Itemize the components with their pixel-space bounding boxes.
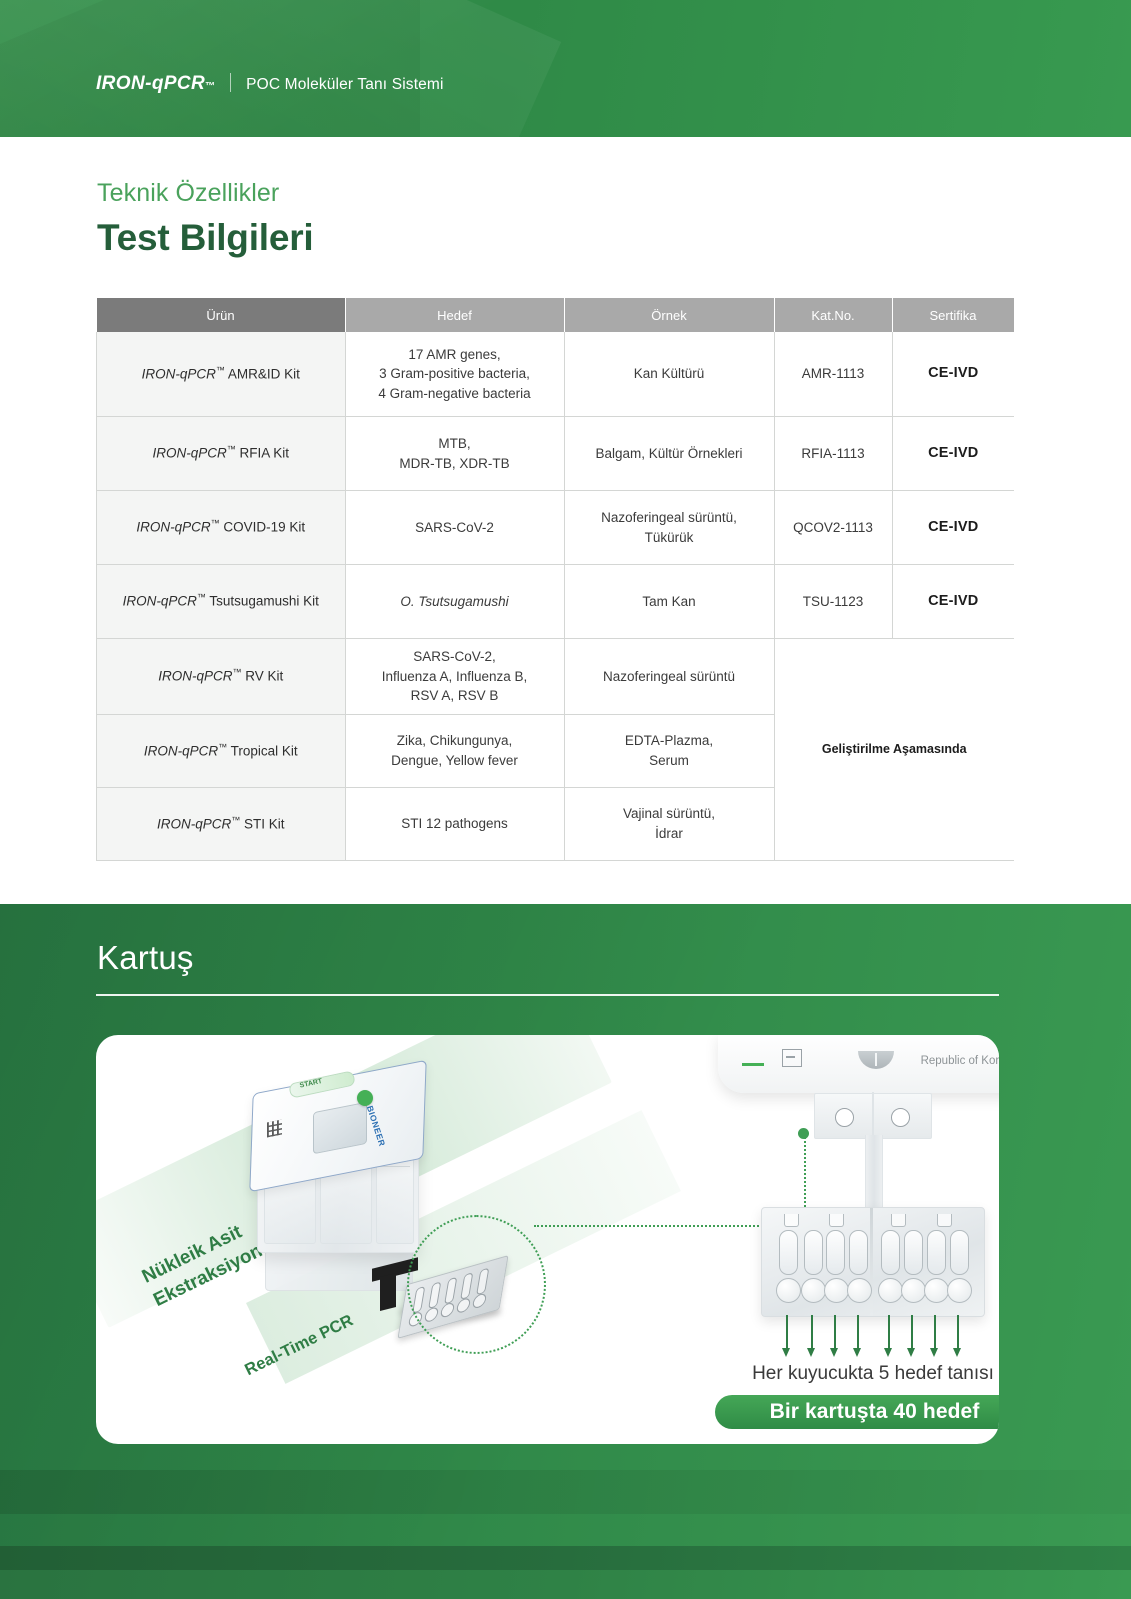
chip-notch [937,1214,952,1227]
product-kit-name: AMR&ID Kit [225,366,300,381]
trademark-icon: ™ [211,518,220,528]
connector-endpoint-dot [798,1128,809,1139]
chip-well [924,1278,949,1303]
cell-development-note: Geliştirilme Aşamasında [774,639,1014,861]
chip-well [947,1278,972,1303]
bracket-hole [891,1108,910,1127]
cell-product: IRON-qPCR™ RFIA Kit [97,417,346,491]
cell-catno: AMR-1113 [774,332,892,417]
cell-catno: QCOV2-1113 [774,491,892,565]
cell-certificate: CE-IVD [892,491,1014,565]
cell-product: IRON-qPCR™ RV Kit [97,639,346,715]
footer-band [0,1546,1131,1570]
arrow-line [786,1315,788,1351]
test-info-table: Ürün Hedef Örnek Kat.No. Sertifika IRON-… [96,298,1015,861]
cell-target: Zika, Chikungunya, Dengue, Yellow fever [345,714,564,787]
product-kit-name: Tsutsugamushi Kit [206,594,319,609]
cell-catno: TSU-1123 [774,565,892,639]
magnifier-circle [407,1215,546,1354]
column-header-sertifika: Sertifika [892,298,1014,332]
trademark-icon: ™ [205,81,215,92]
cell-target: SARS-CoV-2, Influenza A, Influenza B, RS… [345,639,564,715]
page-title: Test Bilgileri [97,217,314,259]
table-row: IRON-qPCR™ COVID-19 Kit SARS-CoV-2 Nazof… [97,491,1015,565]
column-header-katno: Kat.No. [774,298,892,332]
cell-certificate: CE-IVD [892,332,1014,417]
header-tagline: POC Moleküler Tanı Sistemi [246,76,443,94]
chip-well [878,1278,903,1303]
column-header-ornek: Örnek [564,298,774,332]
trademark-icon: ™ [197,592,206,602]
trademark-icon: ™ [227,444,236,454]
cell-product: IRON-qPCR™ AMR&ID Kit [97,332,346,417]
cell-sample: Tam Kan [564,565,774,639]
indicator-bar [742,1063,764,1066]
product-brand: IRON-qPCR [142,366,216,381]
chip-notch [891,1214,906,1227]
cartridge-holder-bracket [814,1093,932,1139]
arrow-line [911,1315,913,1351]
chip-stem [865,1135,883,1210]
well-arrows-group [761,1315,983,1363]
chip-notch [829,1214,844,1227]
trademark-icon: ™ [231,815,240,825]
arrow-line [934,1315,936,1351]
chip-slot [826,1230,845,1275]
page-footer [0,1570,1131,1599]
chip-slot [881,1230,900,1275]
chip-slot [849,1230,868,1275]
page-header-bar: IRON-qPCR™ POC Moleküler Tanı Sistemi [0,0,1131,137]
arrow-head-icon [830,1348,838,1357]
chip-notch [784,1214,799,1227]
spec-section: Teknik Özellikler Test Bilgileri Ürün He… [0,137,1131,904]
chip-well [901,1278,926,1303]
brand-divider [230,73,231,92]
arrow-line [834,1315,836,1351]
cell-catno: RFIA-1113 [774,417,892,491]
table-header-row: Ürün Hedef Örnek Kat.No. Sertifika [97,298,1015,332]
bracket-hole [835,1108,854,1127]
cell-target: 17 AMR genes, 3 Gram-positive bacteria, … [345,332,564,417]
arrow-line [857,1315,859,1351]
chip-slot [779,1230,798,1275]
table-row: IRON-qPCR™ RFIA Kit MTB, MDR-TB, XDR-TB … [97,417,1015,491]
cell-product: IRON-qPCR™ STI Kit [97,787,346,860]
cell-target: SARS-CoV-2 [345,491,564,565]
brand-lockup: IRON-qPCR™ POC Moleküler Tanı Sistemi [96,70,444,95]
chip-slot [804,1230,823,1275]
product-brand: IRON-qPCR [152,446,226,461]
cartridge-product-image: BIONEER START [251,1063,426,1263]
table-row: IRON-qPCR™ RV Kit SARS-CoV-2, Influenza … [97,639,1015,715]
column-header-hedef: Hedef [345,298,564,332]
qr-code-icon [267,1120,282,1138]
section-eyebrow: Teknik Özellikler [97,179,279,208]
arrow-line [957,1315,959,1351]
cartridge-diagram-card: Nükleik Asit Ekstraksiyonu Real-Time PCR… [96,1035,999,1444]
trademark-icon: ™ [233,667,242,677]
chip-slot [927,1230,946,1275]
product-brand: IRON-qPCR [157,816,231,831]
chip-well [776,1278,801,1303]
arrow-head-icon [782,1348,790,1357]
product-brand: IRON-qPCR [136,520,210,535]
table-row: IRON-qPCR™ AMR&ID Kit 17 AMR genes, 3 Gr… [97,332,1015,417]
product-kit-name: RV Kit [242,669,284,684]
table-row: IRON-qPCR™ Tsutsugamushi Kit O. Tsutsuga… [97,565,1015,639]
brand-name: IRON-qPCR [96,73,205,95]
power-indicator-icon [742,1051,768,1065]
chip-well [847,1278,872,1303]
column-header-urun: Ürün [97,298,346,332]
cartridge-section: Kartuş Nükleik Asit Ekstraksiyonu Real-T… [0,904,1131,1570]
brochure-page: IRON-qPCR™ POC Moleküler Tanı Sistemi Te… [0,0,1131,1599]
arrow-line [888,1315,890,1351]
cell-sample: Nazoferingeal sürüntü, Tükürük [564,491,774,565]
table-header: Ürün Hedef Örnek Kat.No. Sertifika [97,298,1015,332]
targets-badge-label: Bir kartuşta 40 hedef [770,1400,980,1424]
pull-tab-label: START [299,1078,323,1090]
cell-sample: EDTA-Plazma, Serum [564,714,774,787]
chip-well [824,1278,849,1303]
status-indicator-dot [357,1090,373,1106]
chip-well [801,1278,826,1303]
targets-badge: Bir kartuşta 40 hedef [715,1395,999,1429]
arrow-head-icon [930,1348,938,1357]
cell-target: STI 12 pathogens [345,787,564,860]
origin-label: Republic of Korea [921,1055,999,1067]
cell-product: IRON-qPCR™ COVID-19 Kit [97,491,346,565]
arrow-line [811,1315,813,1351]
cell-product: IRON-qPCR™ Tropical Kit [97,714,346,787]
product-kit-name: RFIA Kit [236,446,289,461]
cell-sample: Nazoferingeal sürüntü [564,639,774,715]
wells-caption: Her kuyucukta 5 hedef tanısı [688,1363,999,1385]
arrow-head-icon [884,1348,892,1357]
instrument-knob [858,1051,894,1069]
product-brand: IRON-qPCR [144,743,218,758]
card-slot-icon [782,1049,802,1067]
chip-slot [904,1230,923,1275]
chip-connector [380,1273,396,1311]
cartridge-chip-enlarged [761,1207,985,1317]
product-kit-name: COVID-19 Kit [220,520,306,535]
cartridge-section-title: Kartuş [97,939,194,977]
trademark-icon: ™ [218,742,227,752]
chip-center-divider [870,1208,873,1316]
cell-sample: Kan Kültürü [564,332,774,417]
product-kit-name: Tropical Kit [227,743,298,758]
section-divider [96,994,999,996]
trademark-icon: ™ [216,365,225,375]
cell-certificate: CE-IVD [892,565,1014,639]
cell-certificate: CE-IVD [892,417,1014,491]
instrument-image: Republic of Korea [718,1035,999,1093]
chip-slot [950,1230,969,1275]
product-brand: IRON-qPCR [123,594,197,609]
product-kit-name: STI Kit [240,816,284,831]
arrow-head-icon [807,1348,815,1357]
cell-sample: Balgam, Kültür Örnekleri [564,417,774,491]
arrow-head-icon [853,1348,861,1357]
cell-target: O. Tsutsugamushi [345,565,564,639]
table-body: IRON-qPCR™ AMR&ID Kit 17 AMR genes, 3 Gr… [97,332,1015,860]
cell-product: IRON-qPCR™ Tsutsugamushi Kit [97,565,346,639]
cell-sample: Vajinal sürüntü, İdrar [564,787,774,860]
arrow-head-icon [907,1348,915,1357]
product-brand: IRON-qPCR [158,669,232,684]
arrow-head-icon [953,1348,961,1357]
cell-target: MTB, MDR-TB, XDR-TB [345,417,564,491]
